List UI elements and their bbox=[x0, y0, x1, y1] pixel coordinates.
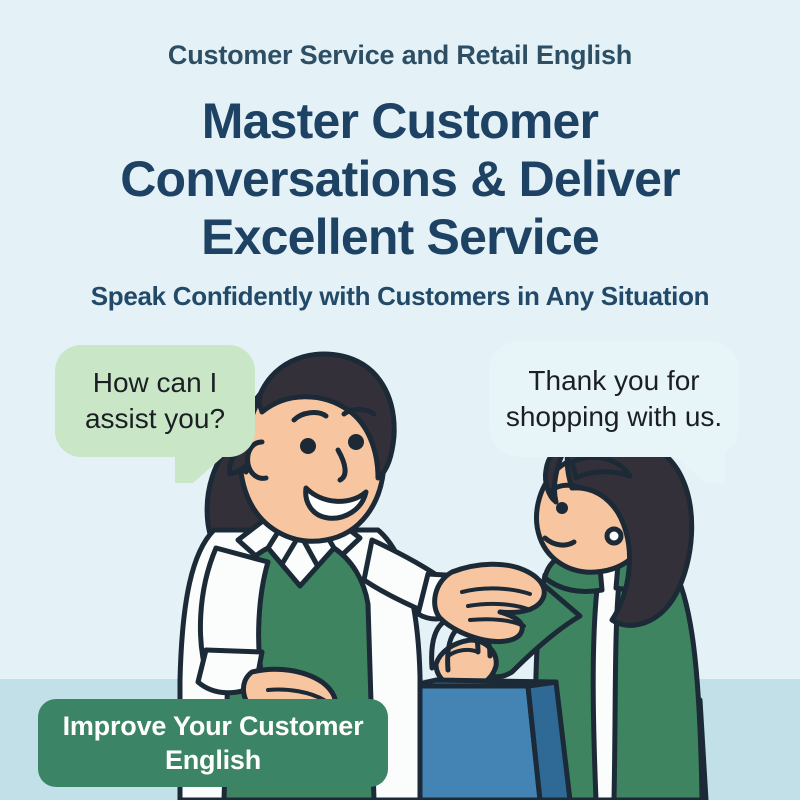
speech-bubble-customer: Thank you for shopping with us. bbox=[489, 341, 739, 457]
bubble-staff-line-1: How can I bbox=[93, 365, 218, 401]
poster-canvas: Customer Service and Retail English Mast… bbox=[0, 0, 800, 800]
bubble-customer-line-1: Thank you for bbox=[528, 363, 699, 399]
speech-bubble-tail-customer bbox=[671, 453, 725, 483]
cta-line-1: Improve Your Customer bbox=[63, 711, 364, 741]
bubble-customer-line-2: shopping with us. bbox=[506, 399, 722, 435]
bubble-staff-line-2: assist you? bbox=[85, 401, 225, 437]
speech-bubble-staff: How can I assist you? bbox=[55, 345, 255, 457]
cta-line-2: English bbox=[165, 745, 261, 775]
speech-bubble-tail-staff bbox=[175, 453, 227, 483]
cta-button[interactable]: Improve Your Customer English bbox=[38, 699, 388, 787]
